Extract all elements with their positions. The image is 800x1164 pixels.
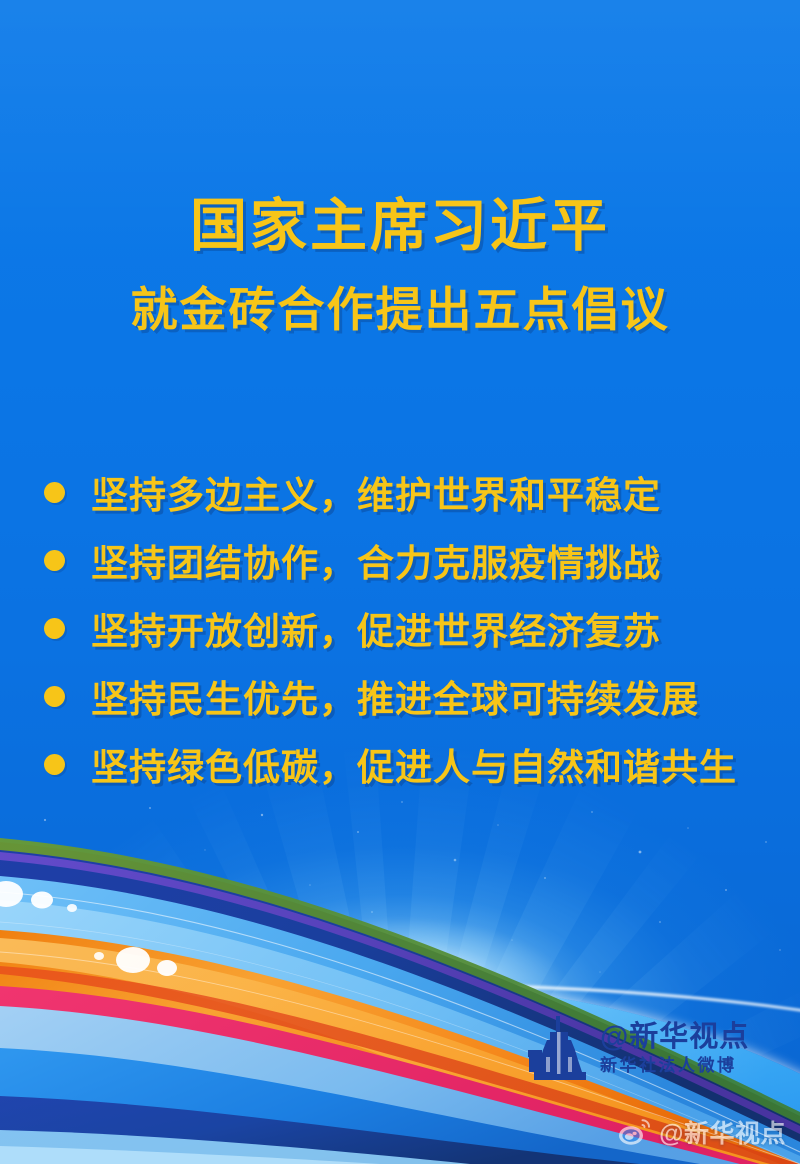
list-item-label: 坚持多边主义，维护世界和平稳定 [91,465,661,519]
xinhua-tower-logo-mark-icon [528,1016,590,1082]
bullet-dot-icon [44,550,65,571]
title-line-1: 国家主席习近平 [0,196,800,258]
weibo-watermark-label: @新华视点 [659,1114,786,1150]
list-item: 坚持多边主义，维护世界和平稳定 [44,458,774,526]
list-item-label: 坚持开放创新，促进世界经济复苏 [91,601,661,655]
bullet-dot-icon [44,686,65,707]
list-item: 坚持民生优先，推进全球可持续发展 [44,662,774,730]
list-item: 坚持团结协作，合力克服疫情挑战 [44,526,774,594]
list-item: 坚持绿色低碳，促进人与自然和谐共生 [44,730,774,798]
title-line-2: 就金砖合作提出五点倡议 [0,284,800,336]
list-item-label: 坚持团结协作，合力克服疫情挑战 [91,533,661,587]
proposals-list: 坚持多边主义，维护世界和平稳定 坚持团结协作，合力克服疫情挑战 坚持开放创新，促… [44,458,774,798]
poster-content: 国家主席习近平 就金砖合作提出五点倡议 坚持多边主义，维护世界和平稳定 坚持团结… [0,0,800,1164]
list-item: 坚持开放创新，促进世界经济复苏 [44,594,774,662]
logo-sub-label: 新华社法人微博 [600,1057,749,1076]
xinhua-logo: @新华视点 新华社法人微博 [528,1016,749,1082]
bullet-dot-icon [44,754,65,775]
bullet-dot-icon [44,618,65,639]
poster-root: 国家主席习近平 就金砖合作提出五点倡议 坚持多边主义，维护世界和平稳定 坚持团结… [0,0,800,1164]
title-block: 国家主席习近平 就金砖合作提出五点倡议 [0,196,800,335]
list-item-label: 坚持绿色低碳，促进人与自然和谐共生 [91,737,737,791]
weibo-watermark: @新华视点 [618,1114,786,1150]
weibo-icon [618,1118,652,1146]
list-item-label: 坚持民生优先，推进全球可持续发展 [91,669,699,723]
bullet-dot-icon [44,482,65,503]
logo-main-label: @新华视点 [600,1022,749,1052]
logo-text-group: @新华视点 新华社法人微博 [600,1022,749,1075]
